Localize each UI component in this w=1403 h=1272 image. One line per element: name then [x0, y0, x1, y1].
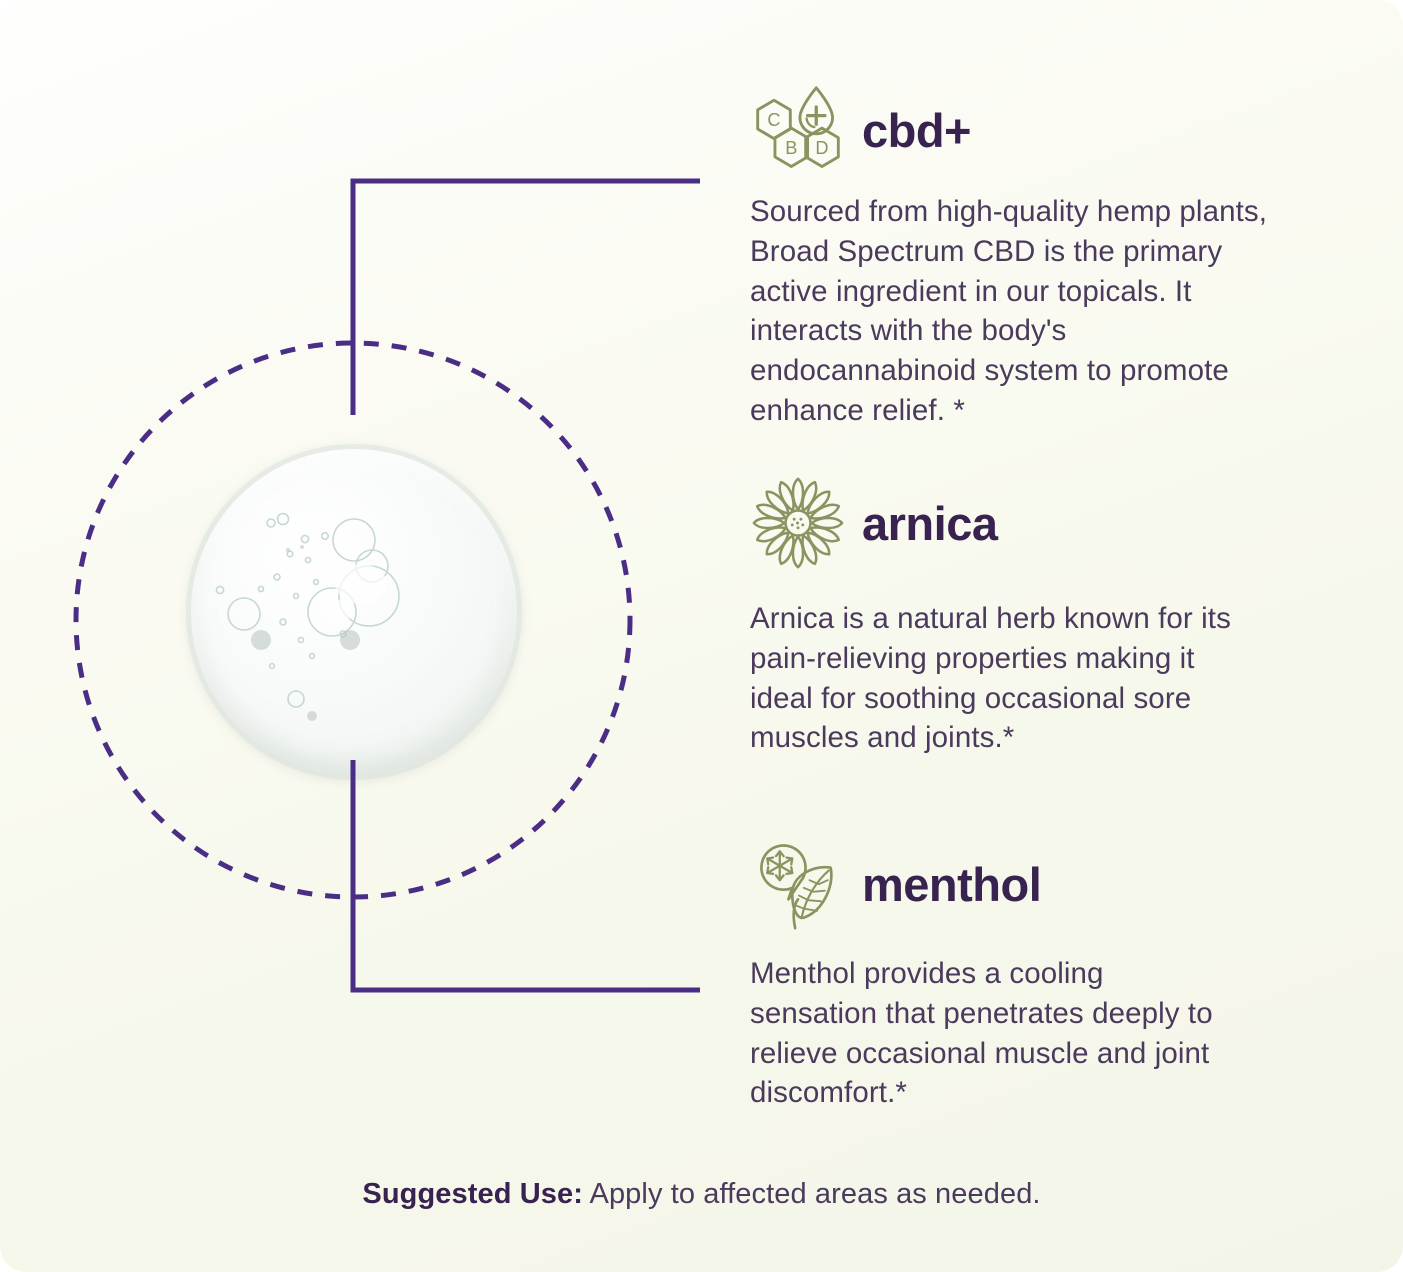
- ingredient-menthol-header: menthol: [750, 836, 1280, 932]
- ingredient-cbd-title: cbd+: [862, 107, 971, 154]
- ingredient-cbd-description: Sourced from high-quality hemp plants, B…: [750, 192, 1270, 431]
- product-visual-panel: [0, 0, 740, 1272]
- ingredient-menthol-title: menthol: [862, 861, 1041, 908]
- ingredient-arnica: arnica Arnica is a natural herb known fo…: [750, 475, 1280, 758]
- ingredient-arnica-title: arnica: [862, 500, 997, 547]
- ingredient-info-card: C B D cbd+ Sourced from high-quality hem…: [0, 0, 1403, 1272]
- bracket-connectors: [0, 0, 740, 1272]
- suggested-use-label: Suggested Use:: [362, 1178, 583, 1210]
- ingredient-cbd: C B D cbd+ Sourced from high-quality hem…: [750, 82, 1280, 431]
- cbd-hexagon-droplet-icon: C B D: [750, 82, 846, 178]
- suggested-use-text: Apply to affected areas as needed.: [583, 1178, 1041, 1210]
- suggested-use-footer: Suggested Use: Apply to affected areas a…: [0, 1178, 1403, 1211]
- ingredient-arnica-header: arnica: [750, 475, 1280, 571]
- ingredient-arnica-description: Arnica is a natural herb known for its p…: [750, 599, 1240, 758]
- svg-text:B: B: [785, 137, 797, 158]
- ingredient-menthol: menthol Menthol provides a cooling sensa…: [750, 836, 1280, 1113]
- ingredient-menthol-description: Menthol provides a cooling sensation tha…: [750, 954, 1220, 1113]
- ingredients-list: C B D cbd+ Sourced from high-quality hem…: [750, 0, 1310, 1272]
- svg-text:D: D: [815, 137, 828, 158]
- ingredient-cbd-header: C B D cbd+: [750, 82, 1280, 178]
- arnica-daisy-flower-icon: [750, 475, 846, 571]
- svg-text:C: C: [767, 109, 780, 130]
- menthol-snowflake-leaf-icon: [750, 836, 846, 932]
